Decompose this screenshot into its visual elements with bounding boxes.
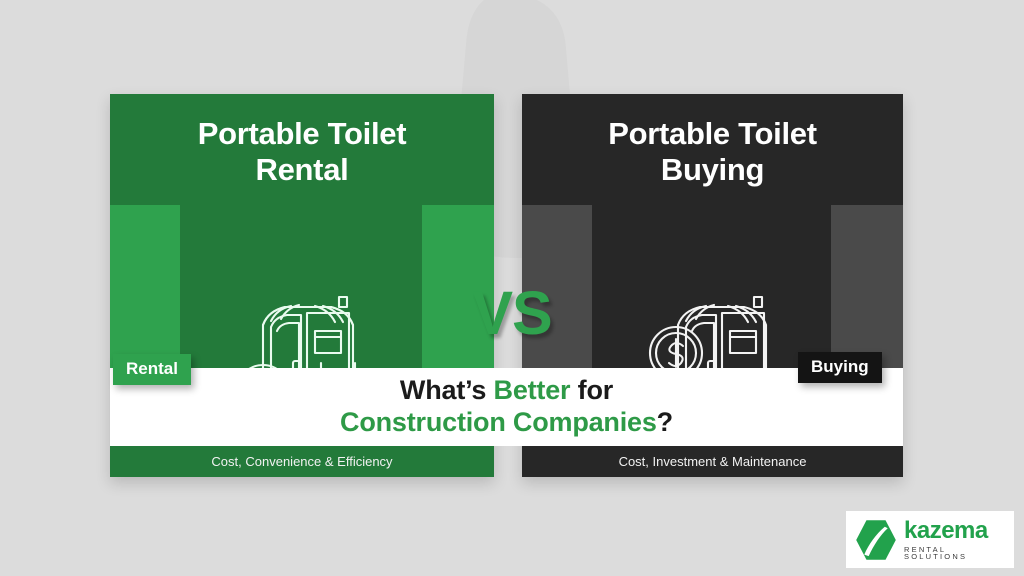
rental-title-line2: Rental xyxy=(110,152,494,188)
kazema-hexagon-mark-icon xyxy=(854,518,898,562)
kazema-logo-text: kazema RENTAL SOLUTIONS xyxy=(904,519,1006,561)
rental-panel-title: Portable Toilet Rental xyxy=(110,116,494,188)
kazema-wordmark: kazema xyxy=(904,519,1006,543)
buying-badge-label: Buying xyxy=(811,357,869,376)
buying-title-line2: Buying xyxy=(522,152,903,188)
rental-footer: Cost, Convenience & Efficiency xyxy=(110,446,494,477)
kazema-logo: kazema RENTAL SOLUTIONS xyxy=(846,511,1014,568)
headline-banner: What’s Better for Construction Companies… xyxy=(110,368,903,446)
rental-badge: Rental xyxy=(113,354,191,385)
buying-footer: Cost, Investment & Maintenance xyxy=(522,446,903,477)
versus-label: VS xyxy=(0,283,1024,344)
kazema-tagline: RENTAL SOLUTIONS xyxy=(904,546,1006,561)
buying-badge: Buying xyxy=(798,352,882,383)
buying-title-line1: Portable Toilet xyxy=(522,116,903,152)
buying-panel-title: Portable Toilet Buying xyxy=(522,116,903,188)
rental-footer-text: Cost, Convenience & Efficiency xyxy=(211,454,392,469)
rental-title-line1: Portable Toilet xyxy=(110,116,494,152)
buying-footer-text: Cost, Investment & Maintenance xyxy=(619,454,807,469)
headline-l2-b: ? xyxy=(657,407,673,437)
headline-l1-b: Better xyxy=(494,375,571,405)
headline-l1-a: What’s xyxy=(400,375,494,405)
headline-line-1: What’s Better for xyxy=(400,375,613,407)
infographic-canvas: Portable Toilet Rental xyxy=(0,0,1024,576)
headline-l1-c: for xyxy=(570,375,613,405)
headline-line-2: Construction Companies? xyxy=(340,407,673,439)
versus-text: VS xyxy=(472,279,551,347)
headline-l2-a: Construction Companies xyxy=(340,407,657,437)
rental-badge-label: Rental xyxy=(126,359,178,378)
